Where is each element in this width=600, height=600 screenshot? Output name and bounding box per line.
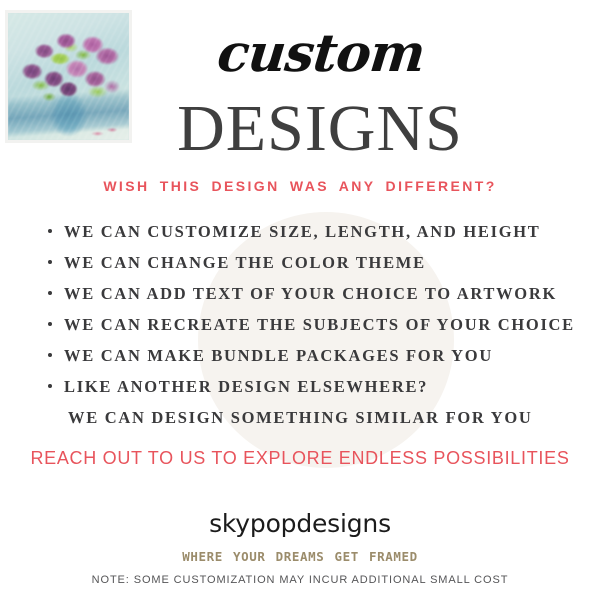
bullet-dot-icon <box>48 291 52 295</box>
list-item: WE CAN ADD TEXT OF YOUR CHOICE TO ARTWOR… <box>44 278 584 309</box>
call-to-action-text: REACH OUT TO US TO EXPLORE ENDLESS POSSI… <box>0 448 600 469</box>
list-item-label: WE CAN CHANGE THE COLOR THEME <box>64 253 426 272</box>
brand-name: skypopdesigns <box>0 509 600 538</box>
bullet-dot-icon <box>48 384 52 388</box>
list-item-continuation: WE CAN DESIGN SOMETHING SIMILAR FOR YOU <box>44 402 584 433</box>
promo-poster: custom DESIGNS WISH THIS DESIGN WAS ANY … <box>0 0 600 600</box>
list-item-label: WE CAN ADD TEXT OF YOUR CHOICE TO ARTWOR… <box>64 284 557 303</box>
list-item: LIKE ANOTHER DESIGN ELSEWHERE? <box>44 371 584 402</box>
feature-list: WE CAN CUSTOMIZE SIZE, LENGTH, AND HEIGH… <box>44 216 584 433</box>
footnote: NOTE: SOME CUSTOMIZATION MAY INCUR ADDIT… <box>0 574 600 586</box>
brand-tagline: WHERE YOUR DREAMS GET FRAMED <box>0 549 600 564</box>
list-item: WE CAN MAKE BUNDLE PACKAGES FOR YOU <box>44 340 584 371</box>
list-item-label: WE CAN RECREATE THE SUBJECTS OF YOUR CHO… <box>64 315 575 334</box>
bullet-dot-icon <box>48 353 52 357</box>
list-item-label: LIKE ANOTHER DESIGN ELSEWHERE? <box>64 377 428 396</box>
floral-painting-image <box>8 13 129 140</box>
bullet-dot-icon <box>48 260 52 264</box>
bullet-dot-icon <box>48 322 52 326</box>
list-item: WE CAN CUSTOMIZE SIZE, LENGTH, AND HEIGH… <box>44 216 584 247</box>
list-item-label: WE CAN MAKE BUNDLE PACKAGES FOR YOU <box>64 346 493 365</box>
list-item-label: WE CAN CUSTOMIZE SIZE, LENGTH, AND HEIGH… <box>64 222 541 241</box>
bullet-dot-icon <box>48 229 52 233</box>
subtitle: WISH THIS DESIGN WAS ANY DIFFERENT? <box>0 178 600 194</box>
list-item: WE CAN CHANGE THE COLOR THEME <box>44 247 584 278</box>
list-item: WE CAN RECREATE THE SUBJECTS OF YOUR CHO… <box>44 309 584 340</box>
artwork-thumbnail[interactable] <box>5 10 132 143</box>
